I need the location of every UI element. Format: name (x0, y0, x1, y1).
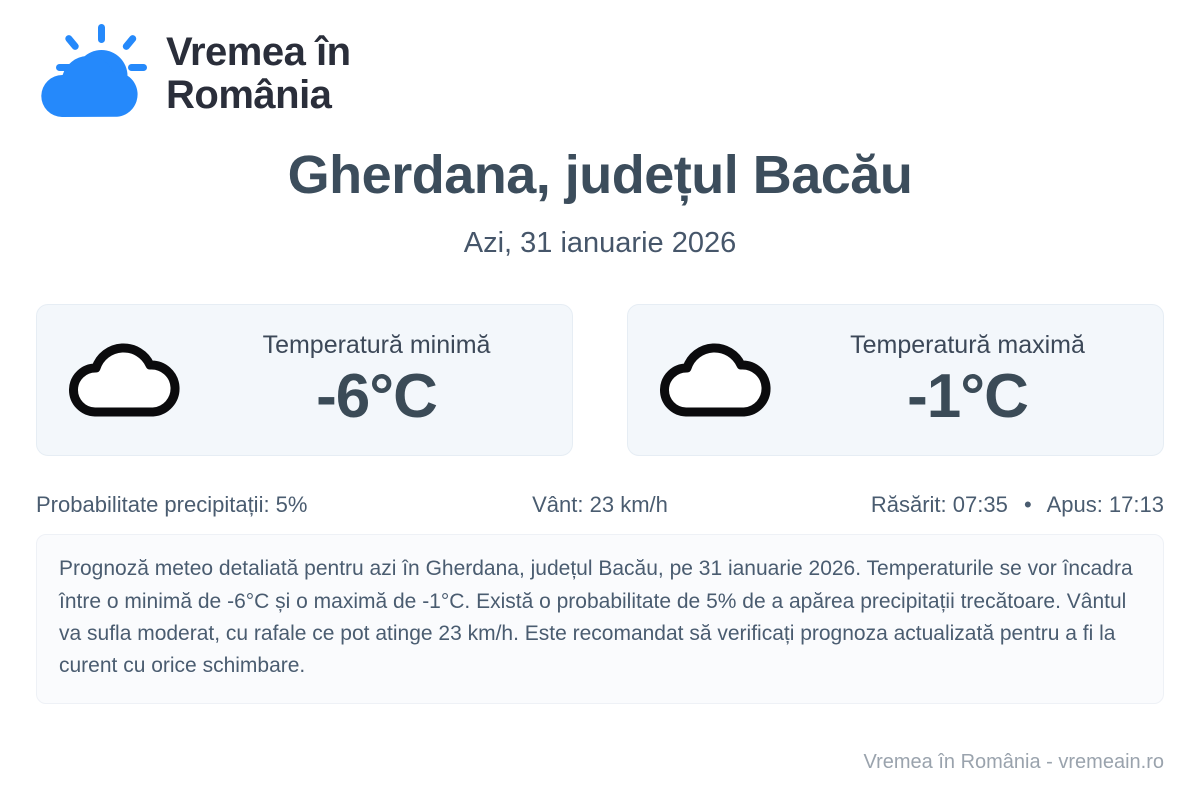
brand-name: Vremea în România (166, 31, 351, 117)
forecast-description-text: Prognoză meteo detaliată pentru azi în G… (59, 553, 1141, 682)
min-temperature-value: -6°C (213, 364, 540, 431)
min-temperature-body: Temperatură minimă -6°C (213, 330, 550, 431)
min-temperature-card: Temperatură minimă -6°C (36, 304, 573, 456)
page-title: Gherdana, județul Bacău (36, 146, 1164, 205)
forecast-description-box: Prognoză meteo detaliată pentru azi în G… (36, 534, 1164, 703)
weather-stats-row: Probabilitate precipitații: 5% Vânt: 23 … (36, 492, 1164, 518)
sunrise-time: Răsărit: 07:35 (871, 492, 1008, 517)
min-temperature-label: Temperatură minimă (213, 330, 540, 360)
footer-credit: Vremea în România - vremeain.ro (864, 751, 1165, 774)
max-temperature-value: -1°C (804, 364, 1131, 431)
sun-behind-cloud-icon (36, 22, 148, 126)
wind-stat: Vânt: 23 km/h (412, 492, 788, 518)
precipitation-stat: Probabilitate precipitații: 5% (36, 492, 412, 518)
sunset-time: Apus: 17:13 (1047, 492, 1164, 517)
max-temperature-label: Temperatură maximă (804, 330, 1131, 360)
temperature-cards: Temperatură minimă -6°C Temperatură maxi… (36, 304, 1164, 456)
max-temperature-card: Temperatură maximă -1°C (627, 304, 1164, 456)
sun-times-stat: Răsărit: 07:35 • Apus: 17:13 (788, 492, 1164, 518)
separator-dot: • (1014, 492, 1042, 518)
weather-page: Vremea în România Gherdana, județul Bacă… (0, 0, 1200, 800)
brand-header: Vremea în România (36, 0, 1164, 102)
cloud-icon (656, 338, 782, 422)
max-temperature-body: Temperatură maximă -1°C (804, 330, 1141, 431)
cloud-icon (65, 338, 191, 422)
date-subtitle: Azi, 31 ianuarie 2026 (36, 227, 1164, 260)
